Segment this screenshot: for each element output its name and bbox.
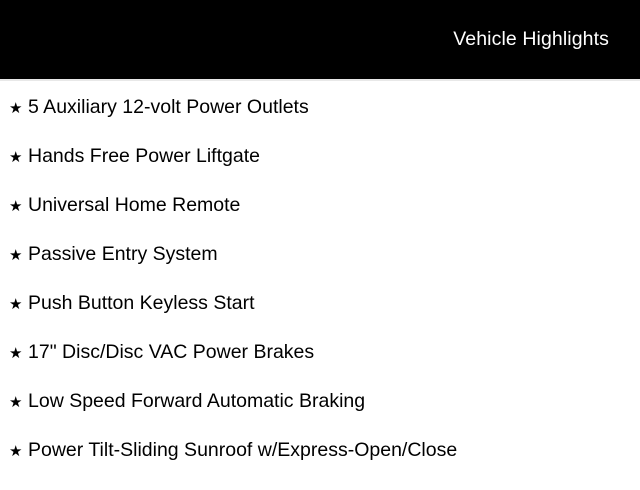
list-item-label: Passive Entry System bbox=[28, 245, 218, 265]
star-icon: ★ bbox=[9, 395, 28, 410]
star-icon: ★ bbox=[9, 297, 28, 312]
star-icon: ★ bbox=[9, 248, 28, 263]
header-bar: Vehicle Highlights bbox=[0, 0, 640, 79]
list-item: ★ Power Tilt-Sliding Sunroof w/Express-O… bbox=[0, 441, 640, 490]
list-item-label: Power Tilt-Sliding Sunroof w/Express-Ope… bbox=[28, 441, 457, 461]
list-item: ★ Passive Entry System bbox=[0, 245, 640, 294]
star-icon: ★ bbox=[9, 101, 28, 116]
star-icon: ★ bbox=[9, 199, 28, 214]
list-item-label: 17" Disc/Disc VAC Power Brakes bbox=[28, 343, 314, 363]
vehicle-highlights-page: Vehicle Highlights ★ 5 Auxiliary 12-volt… bbox=[0, 0, 640, 480]
list-item: ★ Hands Free Power Liftgate bbox=[0, 147, 640, 196]
list-item-label: 5 Auxiliary 12-volt Power Outlets bbox=[28, 98, 309, 118]
list-item: ★ Universal Home Remote bbox=[0, 196, 640, 245]
page-title: Vehicle Highlights bbox=[453, 30, 609, 50]
star-icon: ★ bbox=[9, 150, 28, 165]
star-icon: ★ bbox=[9, 346, 28, 361]
list-item: ★ 17" Disc/Disc VAC Power Brakes bbox=[0, 343, 640, 392]
vehicle-highlights-list: ★ 5 Auxiliary 12-volt Power Outlets ★ Ha… bbox=[0, 81, 640, 490]
list-item-label: Universal Home Remote bbox=[28, 196, 240, 216]
list-item-label: Low Speed Forward Automatic Braking bbox=[28, 392, 365, 412]
list-item: ★ Low Speed Forward Automatic Braking bbox=[0, 392, 640, 441]
list-item-label: Hands Free Power Liftgate bbox=[28, 147, 260, 167]
list-item-label: Push Button Keyless Start bbox=[28, 294, 255, 314]
list-item: ★ 5 Auxiliary 12-volt Power Outlets bbox=[0, 81, 640, 147]
list-item: ★ Push Button Keyless Start bbox=[0, 294, 640, 343]
star-icon: ★ bbox=[9, 444, 28, 459]
